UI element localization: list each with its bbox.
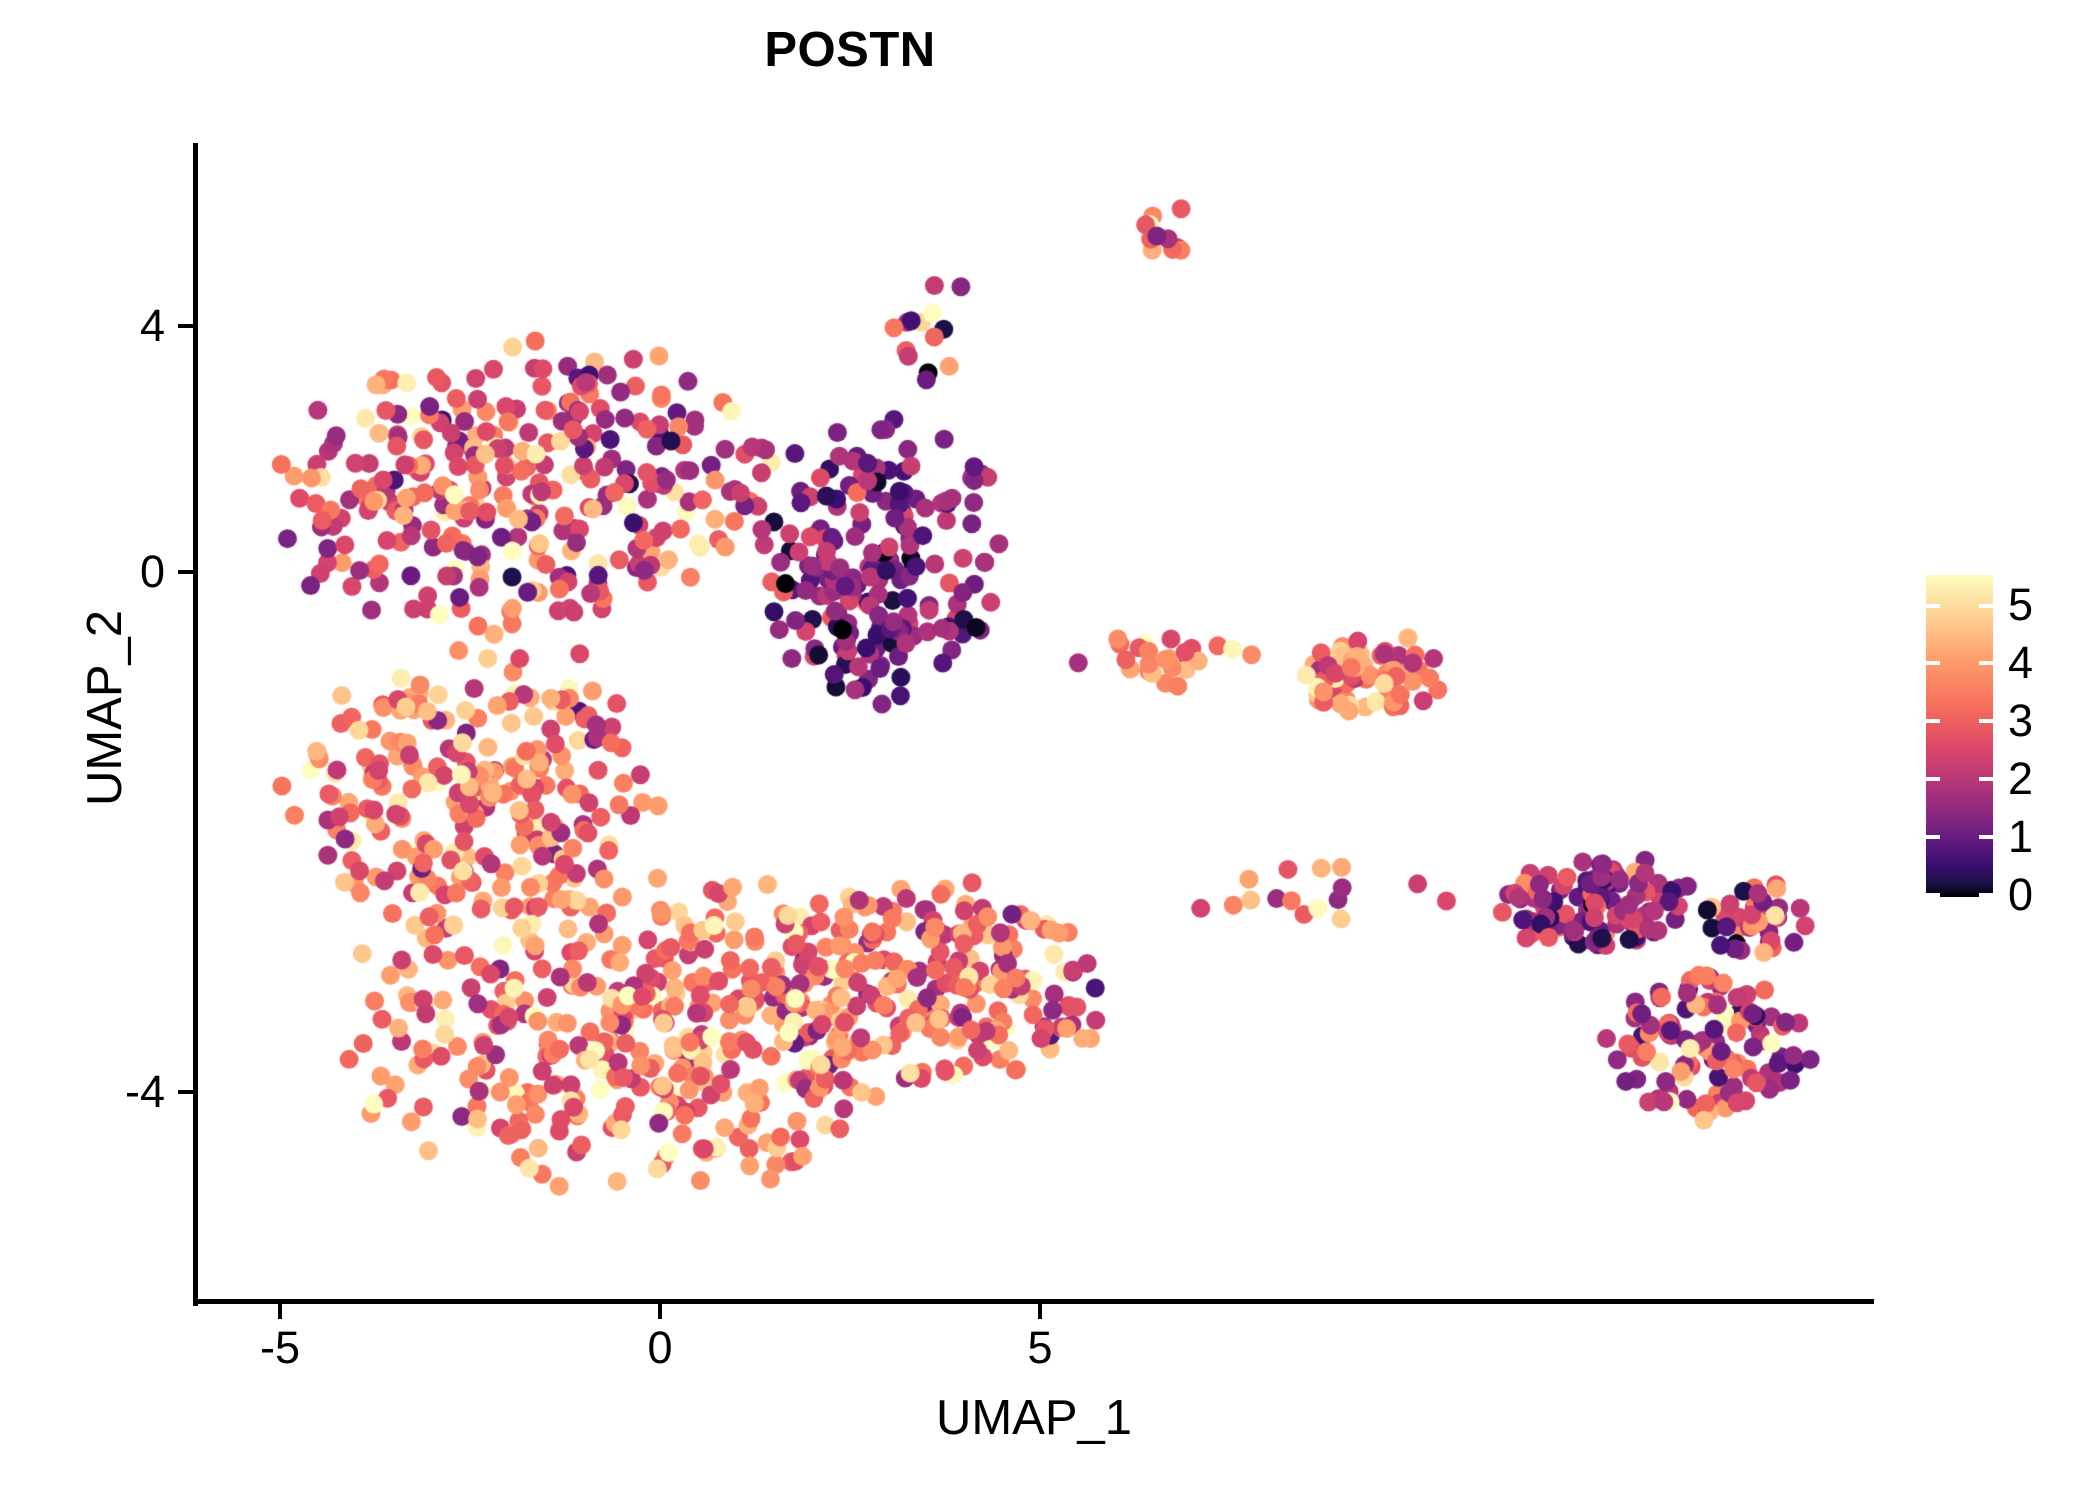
colorbar-tick-3-right (1979, 719, 1993, 723)
x-tick-mark--5 (278, 1304, 282, 1319)
colorbar-label-4: 4 (2008, 640, 2033, 685)
x-tick-label-0: 0 (580, 1322, 740, 1374)
y-axis-title: UMAP_2 (77, 258, 133, 1158)
y-tick-mark--4 (178, 1090, 193, 1094)
scatter-plot-area (195, 143, 1873, 1303)
colorbar-tick-5-right (1979, 604, 1993, 608)
colorbar-tick-1-left (1926, 835, 1940, 839)
colorbar-legend: 5 4 3 2 1 0 (1926, 575, 2086, 905)
y-tick-mark-4 (178, 324, 193, 328)
colorbar-tick-1-right (1979, 835, 1993, 839)
colorbar-label-3: 3 (2008, 698, 2033, 743)
x-tick-label--5: -5 (200, 1322, 360, 1374)
colorbar-tick-2-right (1979, 777, 1993, 781)
x-tick-mark-0 (658, 1304, 662, 1319)
colorbar-label-0: 0 (2008, 872, 2033, 917)
scatter-points-canvas (195, 143, 1873, 1303)
colorbar-tick-5-left (1926, 604, 1940, 608)
colorbar-tick-0-right (1979, 893, 1993, 897)
x-tick-label-5: 5 (960, 1322, 1120, 1374)
chart-root: POSTN -5 0 5 4 0 -4 UMAP_1 UMAP_2 5 4 3 … (0, 0, 2100, 1500)
colorbar-tick-2-left (1926, 777, 1940, 781)
colorbar-label-1: 1 (2008, 814, 2033, 859)
y-tick-mark-0 (178, 570, 193, 574)
colorbar-tick-4-right (1979, 661, 1993, 665)
colorbar-tick-4-left (1926, 661, 1940, 665)
x-axis-title: UMAP_1 (195, 1390, 1873, 1446)
colorbar-label-2: 2 (2008, 756, 2033, 801)
colorbar-gradient (1926, 575, 1993, 897)
colorbar-label-5: 5 (2008, 582, 2033, 627)
colorbar-tick-0-left (1926, 893, 1940, 897)
x-tick-mark-5 (1038, 1304, 1042, 1319)
colorbar-tick-3-left (1926, 719, 1940, 723)
page-title: POSTN (0, 22, 1700, 78)
